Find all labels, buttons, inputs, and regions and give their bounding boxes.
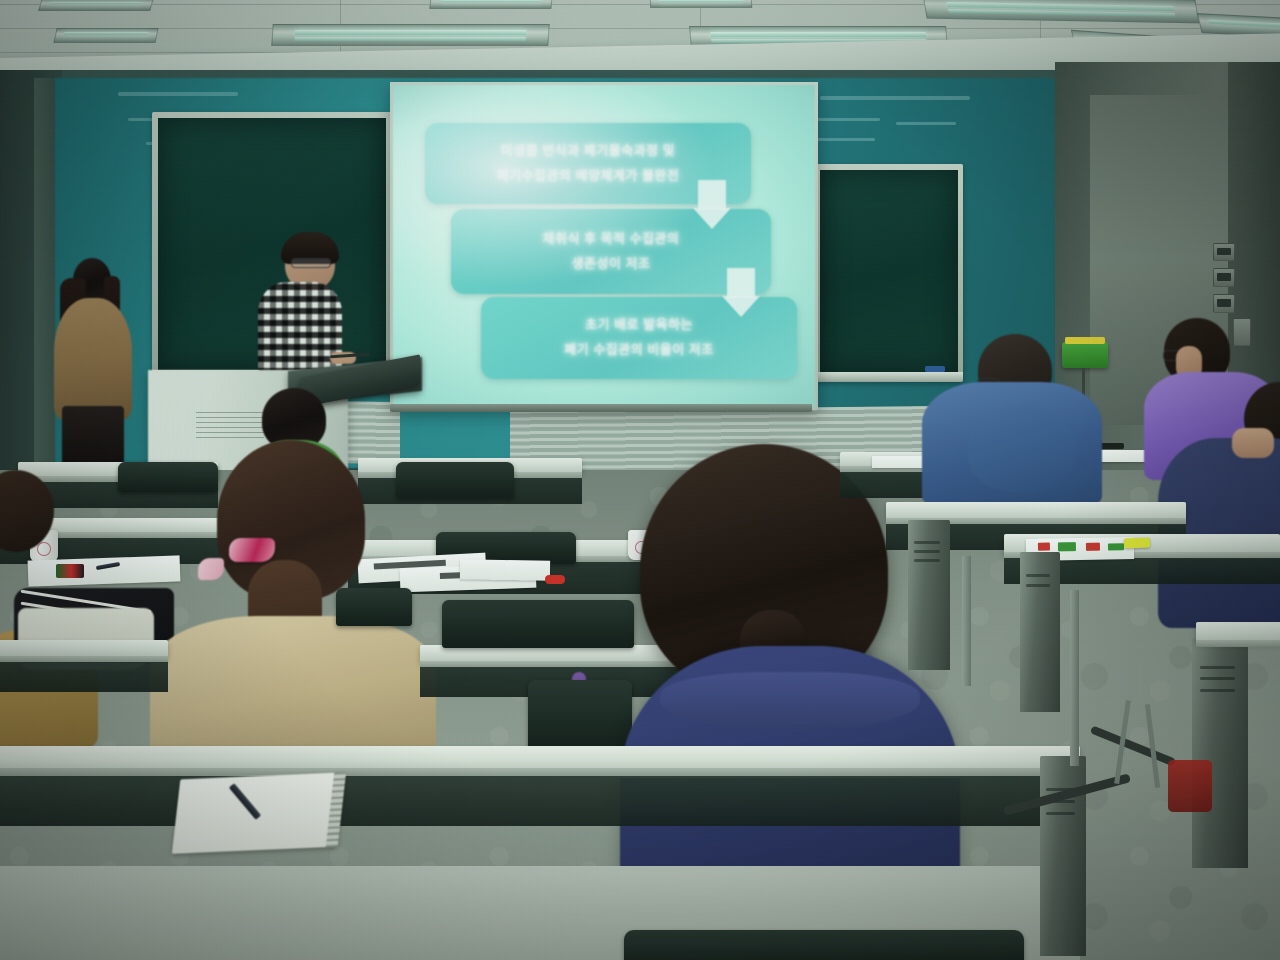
desk-row-right-edge [1196,622,1280,662]
chair[interactable] [528,680,632,756]
pink-ribbon-hair-tie [198,558,224,580]
down-arrow-2-head [722,296,760,317]
standing-woman-left-torso [54,298,132,420]
ceiling-tile-seam [0,28,1280,29]
desk-side-panel [908,520,950,670]
ponytail-torso [150,616,436,758]
green-storage-box-lid [1065,337,1105,344]
chair[interactable] [118,462,218,492]
ceiling-light-fixture [271,24,550,46]
chair[interactable] [442,600,634,648]
slide-box-1-line-1: 미생물 번식과 폐기물숙과정 및 [501,139,675,164]
presenter-checkered-shirt [258,282,342,374]
ceiling-light-fixture [38,0,154,11]
glasses-icon [291,258,331,268]
red-small-object [545,575,565,584]
slide-box-1-line-2: 폐기수집관의 배양체계가 불완전 [497,164,680,189]
light-switch-panel[interactable] [1213,243,1235,261]
ceiling-light-fixture [650,0,752,8]
desk-leg [962,556,971,686]
blue-eraser [925,366,945,372]
standing-woman-left-skirt [62,406,124,470]
pink-ribbon-hair-tie [229,538,275,562]
wall-outlet-panel[interactable] [1233,318,1251,346]
classroom-photo: 미생물 번식과 폐기물숙과정 및 폐기수집관의 배양체계가 불완전 채취식 후 … [0,0,1280,960]
ceiling-light-fixture [429,0,552,9]
wall-sheen [118,92,238,96]
projection-screen-bottom-bar [390,404,812,412]
wall-sheen [820,96,970,100]
projected-slide: 미생물 번식과 폐기물숙과정 및 폐기수집관의 배양체계가 불완전 채취식 후 … [393,85,815,407]
chalkboard-right [820,170,958,372]
hood [968,406,1076,492]
down-arrow-1-stem [698,180,726,210]
red-bag [1168,760,1212,812]
chair[interactable] [396,462,514,498]
handout-papers [872,456,928,468]
desk-side-panel [1020,552,1060,712]
wall-sheen [815,138,875,141]
slide-box-3-line-2: 폐기 수집관의 비율이 저조 [564,338,713,363]
color-handout [56,564,84,578]
desk-leg [1070,590,1079,766]
projection-screen: 미생물 번식과 폐기물숙과정 및 폐기수집관의 배양체계가 불완전 채취식 후 … [390,82,818,410]
green-storage-box [1062,342,1108,368]
desk-side-panel [1192,638,1248,868]
light-switch-panel[interactable] [1213,268,1235,287]
down-arrow-2-stem [727,268,755,298]
chair[interactable] [336,588,412,626]
slide-box-2-line-1: 채취식 후 목적 수집관의 [543,227,680,252]
bob-navy-collar [660,672,920,730]
lectern-vents [196,408,264,438]
chalk-tray-right [815,372,963,381]
slide-box-3-line-1: 초기 배로 발육하는 [585,313,693,338]
handout-papers [28,555,181,586]
handout-papers [460,559,550,581]
down-arrow-1-head [693,208,731,229]
wall-sheen [810,118,880,121]
light-switch-panel[interactable] [1213,294,1235,313]
wall-sheen [896,122,956,125]
desk-row-front [0,746,1080,886]
ceiling-light-fixture [53,28,158,43]
chair[interactable] [624,930,1024,960]
navy-right-hand [1232,428,1274,458]
slide-box-2-line-2: 생존성이 저조 [572,252,651,277]
yellow-highlighter [1124,538,1150,549]
desk-row-3-left [0,640,168,696]
